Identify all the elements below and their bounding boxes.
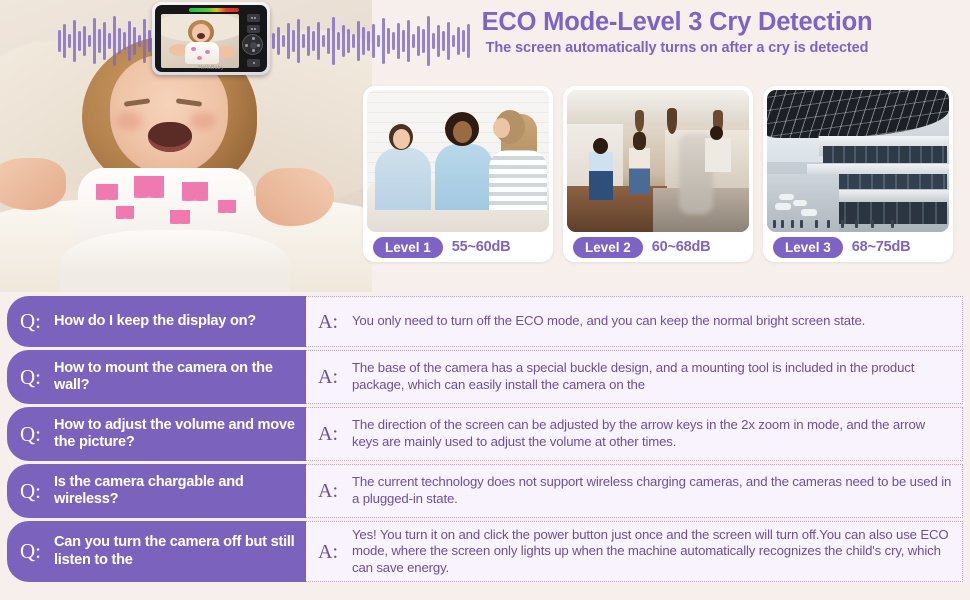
answer-prefix: A: [318, 367, 338, 387]
monitor-dpad[interactable] [242, 34, 263, 55]
question-prefix: Q: [20, 424, 41, 445]
monitor-body: HelloBaby [155, 5, 267, 72]
faq-row: Q: Is the camera chargable and wireless?… [7, 464, 963, 518]
answer-prefix: A: [318, 481, 338, 501]
butterfly-icon [134, 176, 164, 198]
monitor-screen [161, 14, 239, 68]
butterfly-icon [191, 47, 196, 51]
faq-section: Q: How do I keep the display on? A: You … [7, 296, 963, 585]
level-badge: Level 1 [373, 237, 443, 258]
faq-question-text: How to mount the camera on the wall? [54, 360, 298, 394]
butterfly-icon [197, 56, 202, 60]
baby-monitor-device: HelloBaby [152, 2, 270, 75]
hero-section: HelloBaby ECO Mode-Level 3 Cry Detection… [0, 0, 970, 292]
faq-answer-cell: A: Yes! You turn it on and click the pow… [306, 521, 963, 582]
baby-arm-left [0, 158, 66, 210]
faq-question-cell[interactable]: Q: How to adjust the volume and move the… [7, 407, 306, 461]
level-badge: Level 2 [573, 237, 643, 258]
faq-answer-cell: A: The base of the camera has a special … [306, 350, 963, 404]
level-card: Level 3 68~75dB [763, 86, 953, 262]
screen-baby-mouth [197, 33, 205, 39]
screen-baby-shirt [185, 42, 219, 64]
butterfly-icon [96, 184, 118, 200]
faq-answer-cell: A: The current technology does not suppo… [306, 464, 963, 518]
butterfly-icon [170, 210, 190, 224]
butterfly-icon [218, 200, 236, 213]
faq-answer-text: You only need to turn off the ECO mode, … [352, 313, 865, 330]
answer-prefix: A: [318, 312, 338, 332]
faq-question-text: Is the camera chargable and wireless? [54, 474, 298, 508]
level-3-caption: Level 3 68~75dB [767, 232, 949, 262]
faq-row: Q: How to adjust the volume and move the… [7, 407, 963, 461]
butterfly-icon [116, 206, 134, 219]
question-prefix: Q: [20, 541, 41, 562]
question-prefix: Q: [20, 367, 41, 388]
level-1-caption: Level 1 55~60dB [367, 232, 549, 262]
level-card: Level 2 60~68dB [563, 86, 753, 262]
faq-question-text: How do I keep the display on? [54, 313, 256, 330]
baby-cheek-right [190, 112, 216, 130]
faq-answer-text: The base of the camera has a special buc… [352, 360, 952, 393]
answer-prefix: A: [318, 424, 338, 444]
faq-question-cell[interactable]: Q: How do I keep the display on? [7, 296, 306, 347]
question-prefix: Q: [20, 311, 41, 332]
faq-answer-text: The current technology does not support … [352, 474, 952, 507]
faq-row: Q: Can you turn the camera off but still… [7, 521, 963, 582]
level-1-photo [367, 90, 549, 232]
faq-question-text: How to adjust the volume and move the pi… [54, 417, 298, 451]
faq-row: Q: How to mount the camera on the wall? … [7, 350, 963, 404]
faq-answer-cell: A: The direction of the screen can be ad… [306, 407, 963, 461]
level-badge: Level 3 [773, 237, 843, 258]
level-2-caption: Level 2 60~68dB [567, 232, 749, 262]
noise-level-cards: Level 1 55~60dB Level 2 60~68dB [363, 86, 953, 262]
level-card: Level 1 55~60dB [363, 86, 553, 262]
level-decibel-range: 60~68dB [652, 239, 711, 255]
faq-question-text: Can you turn the camera off but still li… [54, 534, 298, 568]
fleece-wrap [60, 230, 290, 292]
monitor-button-menu[interactable] [247, 14, 260, 22]
level-decibel-range: 68~75dB [852, 239, 911, 255]
faq-answer-text: The direction of the screen can be adjus… [352, 417, 952, 450]
faq-question-cell[interactable]: Q: Can you turn the camera off but still… [7, 521, 306, 582]
answer-prefix: A: [318, 542, 338, 562]
level-decibel-range: 55~60dB [452, 239, 511, 255]
butterfly-icon [182, 182, 208, 201]
baby-cheek-left [116, 112, 142, 130]
level-2-photo [567, 90, 749, 232]
faq-row: Q: How do I keep the display on? A: You … [7, 296, 963, 347]
faq-answer-text: Yes! You turn it on and click the power … [352, 527, 952, 577]
sound-level-led-bar [189, 8, 239, 12]
butterfly-icon [205, 50, 210, 54]
page-subtitle: The screen automatically turns on after … [392, 40, 962, 56]
faq-question-cell[interactable]: Q: Is the camera chargable and wireless? [7, 464, 306, 518]
headline-block: ECO Mode-Level 3 Cry Detection The scree… [392, 8, 962, 56]
faq-question-cell[interactable]: Q: How to mount the camera on the wall? [7, 350, 306, 404]
monitor-brand-label: HelloBaby [155, 65, 267, 71]
monitor-button-talk[interactable] [247, 25, 260, 33]
faq-answer-cell: A: You only need to turn off the ECO mod… [306, 296, 963, 347]
level-3-photo [767, 90, 949, 232]
page-title: ECO Mode-Level 3 Cry Detection [392, 8, 962, 37]
infographic-page: HelloBaby ECO Mode-Level 3 Cry Detection… [0, 0, 970, 600]
question-prefix: Q: [20, 481, 41, 502]
baby-mouth-crying [148, 122, 192, 152]
